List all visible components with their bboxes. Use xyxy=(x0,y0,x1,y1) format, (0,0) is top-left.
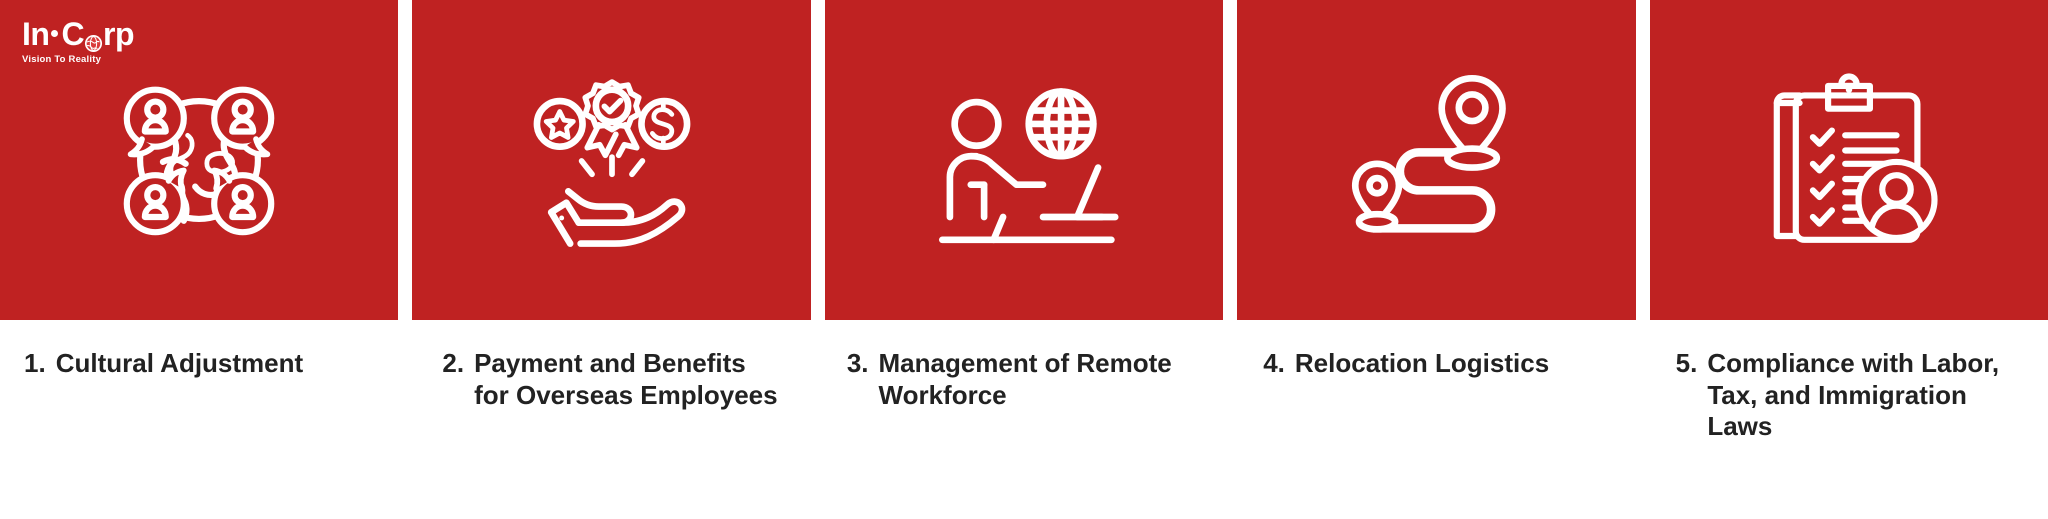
logo-globe-icon xyxy=(84,26,103,45)
logo-separator-dot xyxy=(51,30,58,37)
card-2-caption: 2. Payment and Benefits for Overseas Emp… xyxy=(412,320,810,411)
card-2-title: Payment and Benefits for Overseas Employ… xyxy=(474,348,781,411)
card-1-title: Cultural Adjustment xyxy=(56,348,303,380)
icon-panel-4 xyxy=(1237,0,1635,320)
map-pins-route-icon xyxy=(1341,65,1531,255)
logo-text-rp: rp xyxy=(103,18,134,50)
card-1-number: 1. xyxy=(24,348,46,380)
infographic-board: In C rp xyxy=(0,0,2048,519)
card-2-number: 2. xyxy=(442,348,464,380)
hand-holding-award-coins-icon xyxy=(517,65,707,255)
logo-text-in: In xyxy=(22,18,49,50)
card-1-cultural-adjustment[interactable]: In C rp xyxy=(0,0,398,380)
cards-row: In C rp xyxy=(0,0,2048,443)
logo-tagline: Vision To Reality xyxy=(22,54,162,65)
card-1-caption: 1. Cultural Adjustment xyxy=(0,320,398,380)
card-5-number: 5. xyxy=(1676,348,1698,380)
icon-panel-3 xyxy=(825,0,1223,320)
icon-panel-1: In C rp xyxy=(0,0,398,320)
brand-logo[interactable]: In C rp xyxy=(22,18,162,65)
card-3-title: Management of Remote Workforce xyxy=(879,348,1194,411)
card-2-payment-benefits[interactable]: 2. Payment and Benefits for Overseas Emp… xyxy=(412,0,810,411)
card-5-caption: 5. Compliance with Labor, Tax, and Immig… xyxy=(1650,320,2048,443)
logo-text-c: C xyxy=(61,18,84,50)
card-4-caption: 4. Relocation Logistics xyxy=(1237,320,1635,380)
card-4-number: 4. xyxy=(1263,348,1285,380)
icon-panel-2 xyxy=(412,0,810,320)
card-5-title: Compliance with Labor, Tax, and Immigrat… xyxy=(1707,348,2018,443)
icon-panel-5 xyxy=(1650,0,2048,320)
card-3-caption: 3. Management of Remote Workforce xyxy=(825,320,1223,411)
person-laptop-globe-icon xyxy=(929,65,1119,255)
globe-people-speech-bubbles-icon xyxy=(104,65,294,255)
card-4-title: Relocation Logistics xyxy=(1295,348,1549,380)
clipboard-checklist-person-icon xyxy=(1754,65,1944,255)
card-5-compliance-laws[interactable]: 5. Compliance with Labor, Tax, and Immig… xyxy=(1650,0,2048,443)
card-3-number: 3. xyxy=(847,348,869,380)
card-4-relocation-logistics[interactable]: 4. Relocation Logistics xyxy=(1237,0,1635,380)
logo-wordmark: In C rp xyxy=(22,18,162,50)
card-3-remote-workforce[interactable]: 3. Management of Remote Workforce xyxy=(825,0,1223,411)
